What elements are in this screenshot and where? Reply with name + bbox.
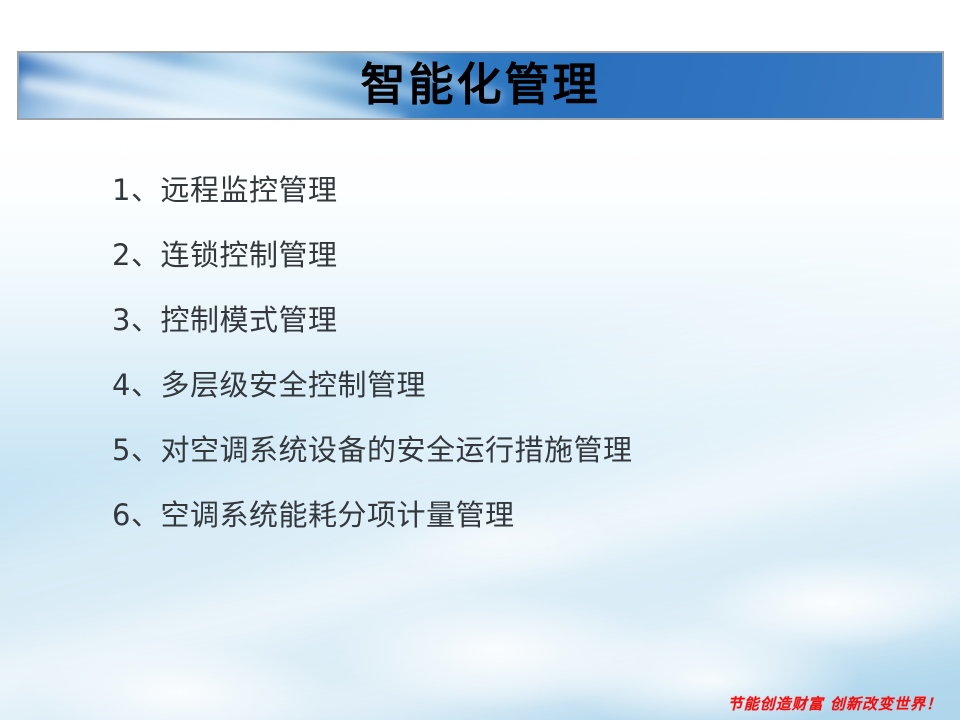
- bullet-item-3: 3、控制模式管理: [112, 288, 852, 353]
- bullet-list: 1、远程监控管理 2、连锁控制管理 3、控制模式管理 4、多层级安全控制管理 5…: [112, 158, 852, 548]
- slide-title-banner: 智能化管理: [17, 51, 944, 120]
- bullet-item-1: 1、远程监控管理: [112, 158, 852, 223]
- bullet-item-2: 2、连锁控制管理: [112, 223, 852, 288]
- footer-slogan: 节能创造财富 创新改变世界！: [728, 693, 942, 714]
- presentation-slide: 智能化管理 1、远程监控管理 2、连锁控制管理 3、控制模式管理 4、多层级安全…: [0, 0, 960, 720]
- bullet-item-5: 5、对空调系统设备的安全运行措施管理: [112, 418, 852, 483]
- slide-title-text: 智能化管理: [19, 53, 942, 118]
- bullet-item-4: 4、多层级安全控制管理: [112, 353, 852, 418]
- bullet-item-6: 6、空调系统能耗分项计量管理: [112, 483, 852, 548]
